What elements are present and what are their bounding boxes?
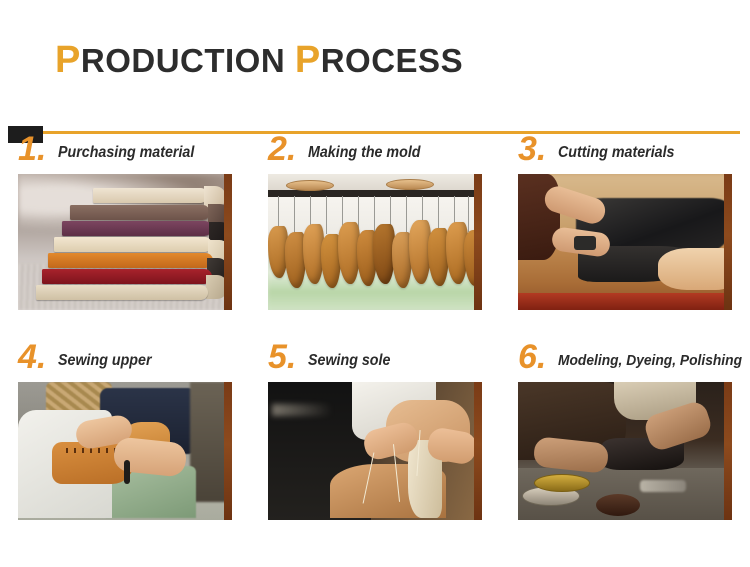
photo2-wire-2 bbox=[294, 196, 295, 232]
steps-grid: 1. Purchasing material bbox=[0, 0, 750, 567]
step-card-4: 4. Sewing upper bbox=[18, 344, 232, 520]
step-photo-4 bbox=[18, 382, 232, 520]
photo6-polish-tin-2 bbox=[534, 474, 590, 492]
leather-sheet-purple bbox=[62, 221, 212, 236]
step-caption-6: 6. Modeling, Dyeing, Polishing bbox=[518, 344, 732, 382]
step-card-6: 6. Modeling, Dyeing, Polishing bbox=[518, 344, 732, 520]
step-number-6: 6. bbox=[518, 338, 546, 376]
leather-sheet-red bbox=[42, 269, 212, 284]
step-number-2: 2. bbox=[268, 130, 296, 168]
leather-sheet-cream-top bbox=[93, 188, 208, 203]
step-number-1: 1. bbox=[18, 130, 46, 168]
photo6-polish-cloth bbox=[640, 480, 686, 492]
step-label-1: Purchasing material bbox=[58, 142, 194, 164]
step-card-3: 3. Cutting materials bbox=[518, 136, 732, 310]
photo5-window-glow bbox=[272, 404, 332, 416]
photo3-right-edge bbox=[724, 174, 732, 310]
leather-sheet-brown bbox=[70, 205, 210, 220]
step-number-3: 3. bbox=[518, 130, 546, 168]
photo6-wax-block bbox=[596, 494, 640, 516]
step-photo-5 bbox=[268, 382, 482, 520]
leather-sheet-ivory bbox=[54, 237, 212, 252]
step-label-4: Sewing upper bbox=[58, 350, 151, 372]
photo2-wire-4 bbox=[326, 196, 327, 234]
step-caption-1: 1. Purchasing material bbox=[18, 136, 232, 174]
photo6-right-edge bbox=[724, 382, 732, 520]
step-photo-6 bbox=[518, 382, 732, 520]
step-photo-2 bbox=[268, 174, 482, 310]
step-label-5: Sewing sole bbox=[308, 350, 390, 372]
step-card-1: 1. Purchasing material bbox=[18, 136, 232, 310]
step-caption-2: 2. Making the mold bbox=[268, 136, 482, 174]
step-label-6: Modeling, Dyeing, Polishing bbox=[558, 350, 742, 372]
step-label-2: Making the mold bbox=[308, 142, 421, 164]
photo1-right-edge bbox=[224, 174, 232, 310]
photo3-second-hands bbox=[658, 248, 732, 290]
photo2-wire-13 bbox=[468, 196, 469, 232]
step-label-3: Cutting materials bbox=[558, 142, 674, 164]
photo4-wrist-band bbox=[124, 460, 130, 484]
step-caption-4: 4. Sewing upper bbox=[18, 344, 232, 382]
step-caption-3: 3. Cutting materials bbox=[518, 136, 732, 174]
photo2-disc-right bbox=[386, 179, 434, 190]
step-card-5: 5. Sewing sole bbox=[268, 344, 482, 520]
step-photo-1 bbox=[18, 174, 232, 310]
step-photo-3 bbox=[518, 174, 732, 310]
leather-sheet-beige-bottom bbox=[36, 285, 208, 300]
photo2-right-edge bbox=[474, 174, 482, 310]
photo4-right-edge bbox=[224, 382, 232, 520]
leather-sheet-orange bbox=[48, 253, 213, 268]
step-number-4: 4. bbox=[18, 338, 46, 376]
step-number-5: 5. bbox=[268, 338, 296, 376]
production-process-infographic: PRODUCTION PROCESS 1. Purchasing materia… bbox=[0, 0, 750, 567]
photo3-table-red-edge bbox=[518, 293, 732, 310]
step-caption-5: 5. Sewing sole bbox=[268, 344, 482, 382]
photo5-right-edge bbox=[474, 382, 482, 520]
photo3-cutting-knife bbox=[574, 236, 596, 250]
step-card-2: 2. Making the mold bbox=[268, 136, 482, 310]
photo2-disc-left bbox=[286, 180, 334, 191]
